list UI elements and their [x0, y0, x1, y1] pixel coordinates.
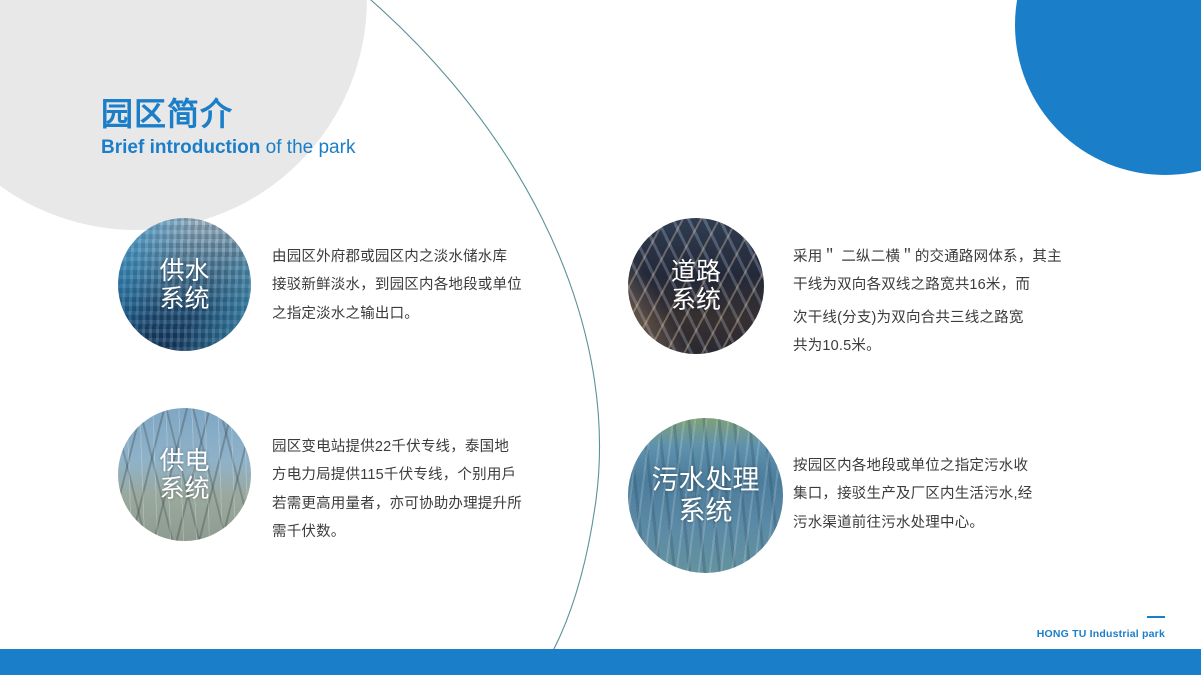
- body-line: 集口，接驳生产及厂区内生活污水,经: [793, 480, 1071, 508]
- badge-label-line2: 系统: [159, 285, 209, 313]
- badge-power-supply[interactable]: 供电 系统: [118, 408, 251, 541]
- body-line: 由园区外府郡或园区内之淡水储水库: [272, 243, 557, 271]
- page-title: 园区简介: [101, 96, 355, 133]
- body-text-water-supply: 由园区外府郡或园区内之淡水储水库 接驳新鲜淡水，到园区内各地段或单位 之指定淡水…: [272, 243, 557, 328]
- blue-corner-circle: [1015, 0, 1201, 175]
- badge-power-supply-label: 供电 系统: [159, 447, 209, 503]
- badge-label-line1: 污水处理: [652, 465, 760, 495]
- body-line: 共为10.5米。: [793, 332, 1065, 360]
- badge-label-line1: 供电: [159, 447, 209, 475]
- badge-label-line1: 道路: [671, 258, 721, 286]
- body-text-power-supply: 园区变电站提供22千伏专线，泰国地 方电力局提供115千伏专线，个别用戶 若需更…: [272, 433, 557, 546]
- badge-water-supply[interactable]: 供水 系统: [118, 218, 251, 351]
- body-line: 干线为双向各双线之路宽共16米，而: [793, 271, 1065, 299]
- body-line: 之指定淡水之输出口。: [272, 300, 557, 328]
- badge-label-line2: 系统: [159, 475, 209, 503]
- footer-dash-icon: [1147, 616, 1165, 618]
- badge-road-system-label: 道路 系统: [671, 258, 721, 314]
- slide-canvas: 园区简介 Brief introduction of the park 供水 系…: [0, 0, 1201, 675]
- bottom-accent-bar: [0, 649, 1201, 675]
- body-line: 按园区内各地段或单位之指定污水收: [793, 452, 1071, 480]
- body-line: 采用＂ 二纵二横＂的交通路网体系，其主: [793, 243, 1065, 271]
- page-title-block: 园区简介 Brief introduction of the park: [101, 96, 355, 160]
- badge-water-supply-label: 供水 系统: [159, 257, 209, 313]
- body-line: 园区变电站提供22千伏专线，泰国地: [272, 433, 557, 461]
- body-text-wastewater-treatment: 按园区内各地段或单位之指定污水收 集口，接驳生产及厂区内生活污水,经 污水渠道前…: [793, 452, 1071, 537]
- badge-label-line2: 系统: [652, 496, 760, 526]
- footer-brand-text: HONG TU Industrial park: [1037, 628, 1165, 640]
- body-line: 方电力局提供115千伏专线，个别用戶: [272, 461, 557, 489]
- page-subtitle-light: of the park: [260, 137, 355, 158]
- page-subtitle-strong: Brief introduction: [101, 137, 260, 158]
- page-subtitle: Brief introduction of the park: [101, 137, 355, 160]
- badge-wastewater-treatment[interactable]: 污水处理 系统: [628, 418, 783, 573]
- body-line: 若需更高用量者，亦可协助办理提升所: [272, 490, 557, 518]
- body-line: 次干线(分支)为双向合共三线之路宽: [793, 304, 1065, 332]
- body-line: 接驳新鲜淡水，到园区内各地段或单位: [272, 271, 557, 299]
- body-text-road-system: 采用＂ 二纵二横＂的交通路网体系，其主 干线为双向各双线之路宽共16米，而 次干…: [793, 243, 1065, 360]
- body-line: 污水渠道前往污水处理中心。: [793, 509, 1071, 537]
- badge-road-system[interactable]: 道路 系统: [628, 218, 764, 354]
- body-line: 需千伏数。: [272, 518, 557, 546]
- badge-label-line1: 供水: [159, 257, 209, 285]
- badge-wastewater-treatment-label: 污水处理 系统: [652, 465, 760, 525]
- footer-brand: HONG TU Industrial park: [1037, 616, 1165, 642]
- badge-label-line2: 系统: [671, 286, 721, 314]
